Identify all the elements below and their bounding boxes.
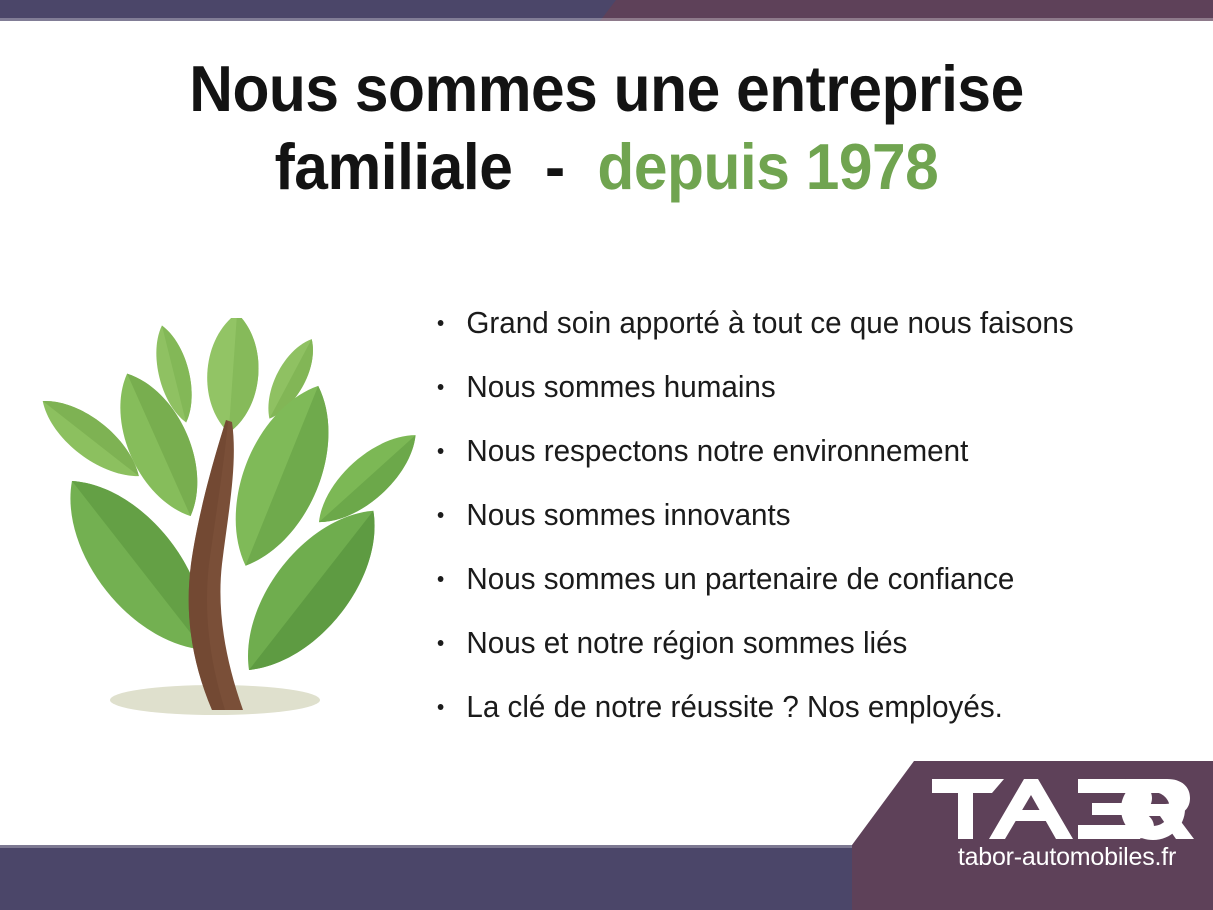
list-item-label: Grand soin apporté à tout ce que nous fa… [466, 305, 1073, 340]
list-item-label: Nous sommes innovants [466, 497, 790, 532]
bullet-dot-icon [438, 384, 444, 390]
list-item: Nous respectons notre environnement [432, 419, 1139, 483]
tree-illustration [28, 318, 426, 726]
list-item: La clé de notre réussite ? Nos employés. [432, 675, 1139, 739]
bullet-dot-icon [438, 576, 444, 582]
list-item-label: Nous et notre région sommes liés [466, 625, 907, 660]
tabor-wordmark-logo [932, 779, 1200, 841]
bullet-dot-icon [438, 448, 444, 454]
top-bar-highlight [0, 18, 1213, 21]
top-decorative-bar [0, 0, 1213, 21]
title-line-two: familiale - depuis 1978 [42, 134, 1170, 200]
list-item: Nous sommes un partenaire de confiance [432, 547, 1139, 611]
bullet-dot-icon [438, 512, 444, 518]
title-dash: - [512, 130, 597, 203]
title-word-familiale: familiale [275, 130, 513, 203]
list-item-label: Nous sommes un partenaire de confiance [466, 561, 1014, 596]
bullet-dot-icon [438, 320, 444, 326]
logo-inner: tabor-automobiles.fr [932, 779, 1202, 872]
bullet-dot-icon [438, 704, 444, 710]
title-accent-depuis-1978: depuis 1978 [597, 130, 938, 203]
bullet-dot-icon [438, 640, 444, 646]
logo-website-url[interactable]: tabor-automobiles.fr [932, 843, 1202, 872]
list-item: Nous et notre région sommes liés [432, 611, 1139, 675]
slide-canvas: Nous sommes une entreprise familiale - d… [0, 0, 1213, 910]
logo-panel[interactable]: tabor-automobiles.fr [852, 761, 1213, 910]
list-item-label: La clé de notre réussite ? Nos employés. [466, 689, 1002, 724]
slide-title: Nous sommes une entreprise familiale - d… [0, 56, 1213, 201]
list-item-label: Nous respectons notre environnement [466, 433, 968, 468]
leaf-top-center [203, 318, 262, 435]
values-bullet-list: Grand soin apporté à tout ce que nous fa… [432, 291, 1172, 739]
list-item: Nous sommes humains [432, 355, 1139, 419]
title-line-one: Nous sommes une entreprise [42, 56, 1170, 122]
list-item: Grand soin apporté à tout ce que nous fa… [432, 291, 1139, 355]
list-item: Nous sommes innovants [432, 483, 1139, 547]
list-item-label: Nous sommes humains [466, 369, 775, 404]
